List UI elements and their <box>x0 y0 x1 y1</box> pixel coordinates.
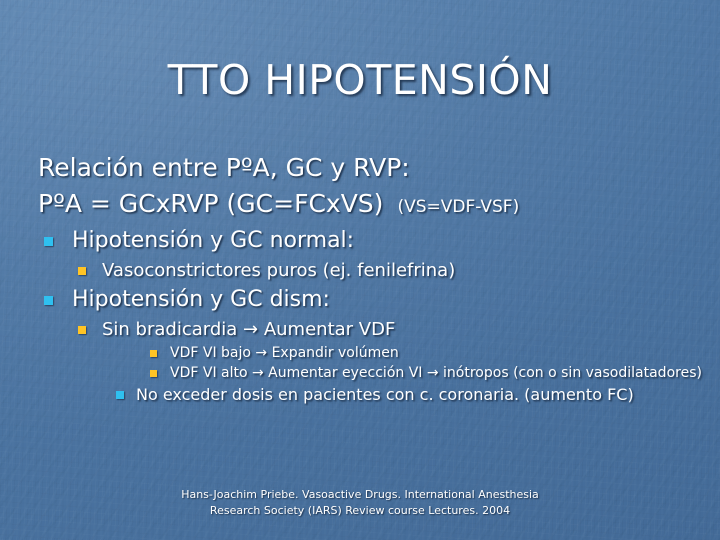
formula-note-text: (VS=VDF-VSF) <box>397 197 519 217</box>
square-bullet-icon <box>150 350 157 357</box>
slide-canvas: TTO HIPOTENSIÓN Relación entre PºA, GC y… <box>0 0 720 540</box>
slide-content: TTO HIPOTENSIÓN Relación entre PºA, GC y… <box>0 0 720 540</box>
bullet-item-sin-bradicardia: Sin bradicardia → Aumentar VDF <box>0 316 720 343</box>
bullet-label: Sin bradicardia → Aumentar VDF <box>102 316 720 343</box>
square-bullet-icon <box>150 370 157 377</box>
square-bullet-icon <box>78 326 86 334</box>
bullet-label: Vasoconstrictores puros (ej. fenilefrina… <box>102 257 720 284</box>
bullet-item-vdf-vi-bajo: VDF VI bajo → Expandir volúmen <box>0 343 720 363</box>
lead-line-relation-text: Relación entre PºA, GC y RVP: <box>38 153 410 182</box>
bullet-label: No exceder dosis en pacientes con c. cor… <box>136 383 720 407</box>
bullet-label: Hipotensión y GC normal: <box>72 225 720 257</box>
bullet-label: VDF VI bajo → Expandir volúmen <box>170 343 720 363</box>
citation-line-1: Hans-Joachim Priebe. Vasoactive Drugs. I… <box>0 487 720 503</box>
bullet-item-no-exceder-dosis: No exceder dosis en pacientes con c. cor… <box>0 383 720 407</box>
bullet-item-vdf-vi-alto: VDF VI alto → Aumentar eyección VI → inó… <box>0 363 720 383</box>
formula-main-text: PºA = GCxRVP (GC=FCxVS) <box>38 189 383 218</box>
bullet-item-hipotension-gc-dism: Hipotensión y GC dism: <box>0 284 720 316</box>
citation-line-2: Research Society (IARS) Review course Le… <box>0 503 720 519</box>
square-bullet-icon <box>116 391 124 399</box>
bullet-label: Hipotensión y GC dism: <box>72 284 720 316</box>
bullet-item-vasoconstrictores: Vasoconstrictores puros (ej. fenilefrina… <box>0 257 720 284</box>
square-bullet-icon <box>44 296 53 305</box>
lead-line-relation: Relación entre PºA, GC y RVP: <box>0 150 720 186</box>
bullet-label: VDF VI alto → Aumentar eyección VI → inó… <box>170 363 720 383</box>
citation-footer: Hans-Joachim Priebe. Vasoactive Drugs. I… <box>0 487 720 519</box>
square-bullet-icon <box>44 237 53 246</box>
slide-title: TTO HIPOTENSIÓN <box>0 58 720 103</box>
bullet-item-hipotension-gc-normal: Hipotensión y GC normal: <box>0 225 720 257</box>
slide-body: Relación entre PºA, GC y RVP: PºA = GCxR… <box>0 150 720 407</box>
square-bullet-icon <box>78 267 86 275</box>
lead-line-formula: PºA = GCxRVP (GC=FCxVS)(VS=VDF-VSF) <box>0 186 720 225</box>
